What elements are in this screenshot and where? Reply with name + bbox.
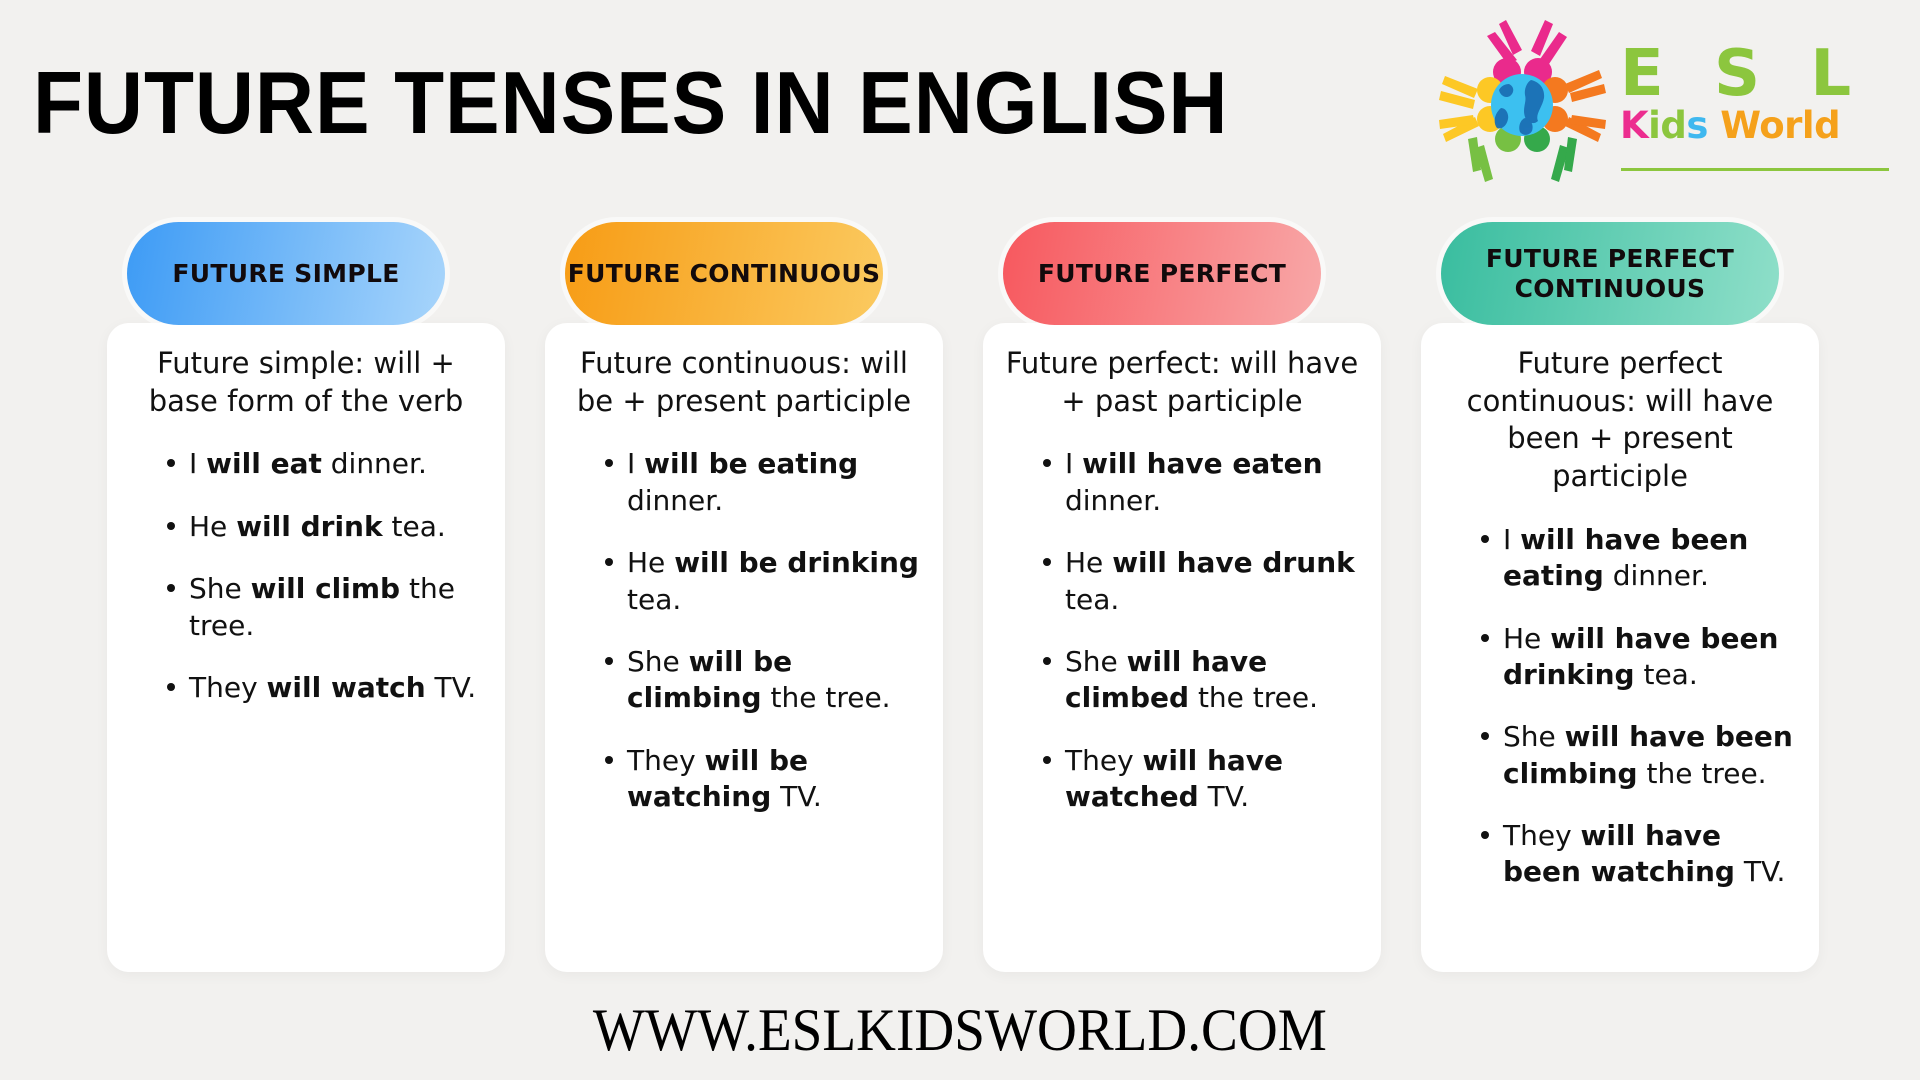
list-item: They will watch TV. (167, 670, 489, 706)
card-formula-future-perfect: Future perfect: will have + past partici… (999, 345, 1365, 420)
card-title-pill-future-perfect-continuous: FUTURE PERFECT CONTINUOUS (1441, 222, 1779, 325)
card-formula-future-continuous: Future continuous: will be + present par… (561, 345, 927, 420)
card-title-pill-future-continuous: FUTURE CONTINUOUS (565, 222, 883, 325)
example-verb-phrase: will have been watching (1503, 819, 1735, 888)
list-item: I will have eaten dinner. (1043, 446, 1365, 519)
list-item: He will be drinking tea. (605, 545, 927, 618)
list-item: I will have been eating dinner. (1481, 522, 1803, 595)
logo-underline (1621, 168, 1889, 171)
card-content-future-continuous: Future continuous: will be + present par… (545, 323, 943, 842)
infographic-page: FUTURE TENSES IN ENGLISH (0, 0, 1920, 1080)
example-list-future-continuous: I will be eating dinner.He will be drink… (561, 446, 927, 815)
footer-url: WWW.ESLKIDSWORLD.COM (0, 996, 1920, 1065)
logo-esl-text: E S L (1620, 44, 1890, 105)
example-verb-phrase: will drink (236, 510, 382, 543)
example-verb-phrase: will have drunk (1112, 546, 1355, 579)
card-formula-future-simple: Future simple: will + base form of the v… (123, 345, 489, 420)
example-verb-phrase: will be eating (644, 447, 858, 480)
card-formula-future-perfect-continuous: Future perfect continuous: will have bee… (1437, 345, 1803, 496)
page-title: FUTURE TENSES IN ENGLISH (33, 52, 1228, 154)
card-title-pill-future-simple: FUTURE SIMPLE (127, 222, 445, 325)
list-item: She will have climbed the tree. (1043, 644, 1365, 717)
example-list-future-perfect: I will have eaten dinner.He will have dr… (999, 446, 1365, 815)
logo-kidsworld-text: Kids World (1620, 107, 1890, 146)
header: FUTURE TENSES IN ENGLISH (0, 0, 1920, 210)
list-item: They will have been watching TV. (1481, 818, 1803, 891)
card-title-pill-future-perfect: FUTURE PERFECT (1003, 222, 1321, 325)
list-item: He will drink tea. (167, 509, 489, 545)
tense-cards-container: FUTURE SIMPLEFuture simple: will + base … (0, 210, 1920, 1000)
example-verb-phrase: will have been drinking (1503, 622, 1778, 691)
list-item: He will have been drinking tea. (1481, 621, 1803, 694)
list-item: She will be climbing the tree. (605, 644, 927, 717)
example-verb-phrase: will be drinking (674, 546, 919, 579)
example-verb-phrase: will climb (251, 572, 400, 605)
list-item: They will be watching TV. (605, 743, 927, 816)
example-verb-phrase: will have watched (1065, 744, 1283, 813)
example-verb-phrase: will have climbed (1065, 645, 1267, 714)
example-verb-phrase: will have eaten (1082, 447, 1322, 480)
card-content-future-perfect: Future perfect: will have + past partici… (983, 323, 1381, 842)
example-verb-phrase: will have been climbing (1503, 720, 1793, 789)
list-item: They will have watched TV. (1043, 743, 1365, 816)
example-verb-phrase: will eat (206, 447, 322, 480)
list-item: She will climb the tree. (167, 571, 489, 644)
brand-logo: E S L Kids World (1425, 12, 1895, 197)
list-item: I will eat dinner. (167, 446, 489, 482)
example-list-future-simple: I will eat dinner.He will drink tea.She … (123, 446, 489, 706)
globe-people-icon (1435, 14, 1610, 189)
example-list-future-perfect-continuous: I will have been eating dinner.He will h… (1437, 522, 1803, 891)
list-item: He will have drunk tea. (1043, 545, 1365, 618)
footer-url-text: WWW.ESLKIDSWORLD.COM (593, 996, 1327, 1065)
example-verb-phrase: will watch (267, 671, 426, 704)
example-verb-phrase: will have been eating (1503, 523, 1748, 592)
example-verb-phrase: will be climbing (627, 645, 792, 714)
card-content-future-simple: Future simple: will + base form of the v… (107, 323, 505, 732)
card-content-future-perfect-continuous: Future perfect continuous: will have bee… (1421, 323, 1819, 917)
list-item: She will have been climbing the tree. (1481, 719, 1803, 792)
example-verb-phrase: will be watching (627, 744, 808, 813)
logo-wordmark: E S L Kids World (1620, 44, 1890, 146)
list-item: I will be eating dinner. (605, 446, 927, 519)
